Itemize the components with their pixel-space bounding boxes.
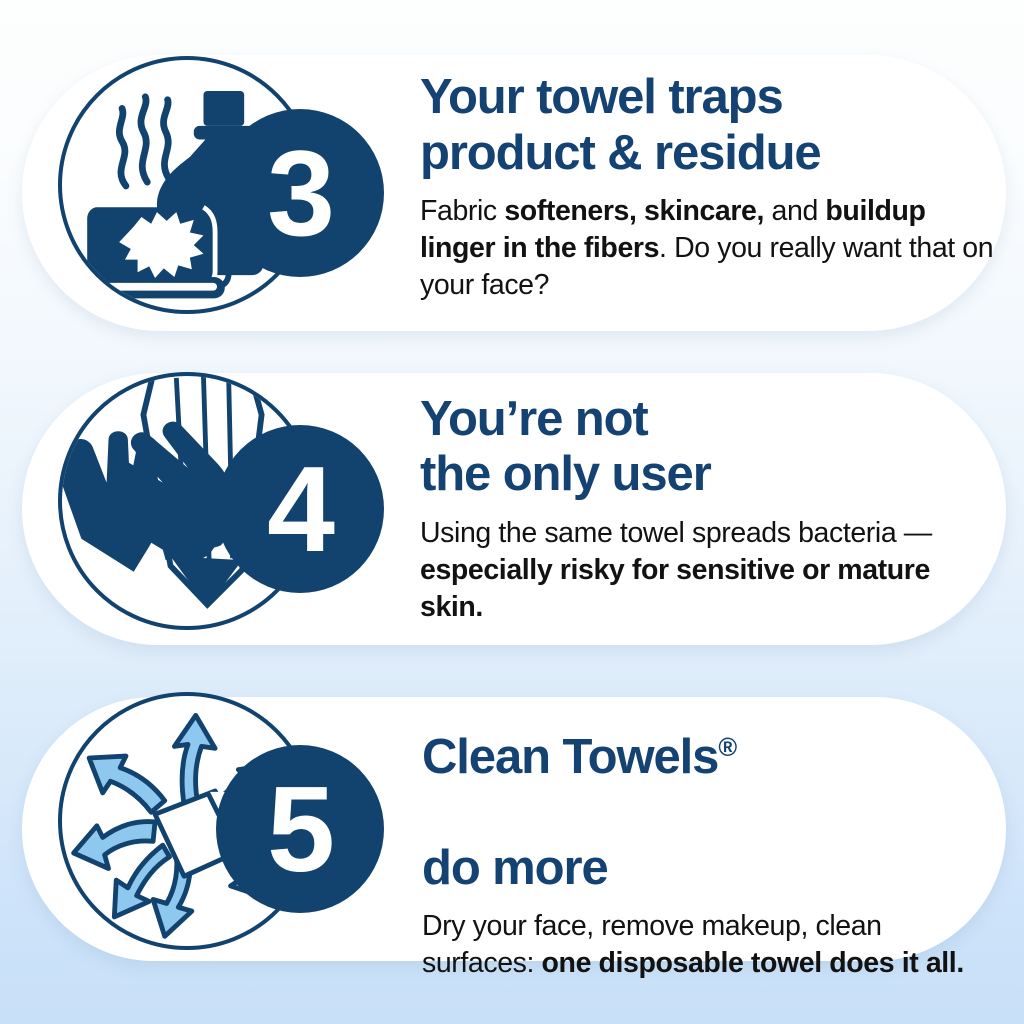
body-text: Fabric <box>420 195 504 227</box>
card-headline-3: Your towel traps product & residue <box>420 71 1006 182</box>
icon-cluster-4: 4 <box>36 362 388 656</box>
card-headline-5: Clean Towels® do more <box>422 675 982 896</box>
info-card-5: 5 Clean Towels® do more Dry your face, r… <box>22 697 1006 961</box>
body-emphasis: softeners, skincare, <box>504 195 764 227</box>
body-text: and <box>764 195 825 227</box>
card-headline-4: You’re not the only user <box>420 392 980 503</box>
card-copy-5: Clean Towels® do more Dry your face, rem… <box>422 675 982 983</box>
card-body-4: Using the same towel spreads bacteria —e… <box>420 515 980 626</box>
step-number-badge-5: 5 <box>216 745 384 913</box>
card-body-3: Fabric softeners, skincare, and buildup … <box>420 193 1006 304</box>
card-body-5: Dry your face, remove makeup, clean surf… <box>422 909 982 983</box>
step-number-badge-4: 4 <box>216 425 384 593</box>
headline-brand-text: Clean Towels <box>422 731 718 785</box>
info-card-4: 4 You’re not the only user Using the sam… <box>22 373 1006 645</box>
headline-line-two: do more <box>422 841 608 895</box>
step-number-badge-3: 3 <box>216 109 384 277</box>
card-copy-3: Your towel traps product & residue Fabri… <box>420 71 1006 305</box>
icon-cluster-3: 3 <box>36 46 388 340</box>
body-emphasis: especially risky for sensitive or mature… <box>420 554 930 623</box>
icon-cluster-5: 5 <box>36 682 388 976</box>
body-emphasis: one disposable towel does it all. <box>542 948 964 980</box>
infographic-board: 3 Your towel traps product & residue Fab… <box>0 0 1024 1024</box>
card-copy-4: You’re not the only user Using the same … <box>420 392 980 626</box>
body-text: Using the same towel spreads bacteria — <box>420 517 932 549</box>
info-card-3: 3 Your towel traps product & residue Fab… <box>22 55 1006 331</box>
registered-trademark-symbol: ® <box>718 734 736 762</box>
